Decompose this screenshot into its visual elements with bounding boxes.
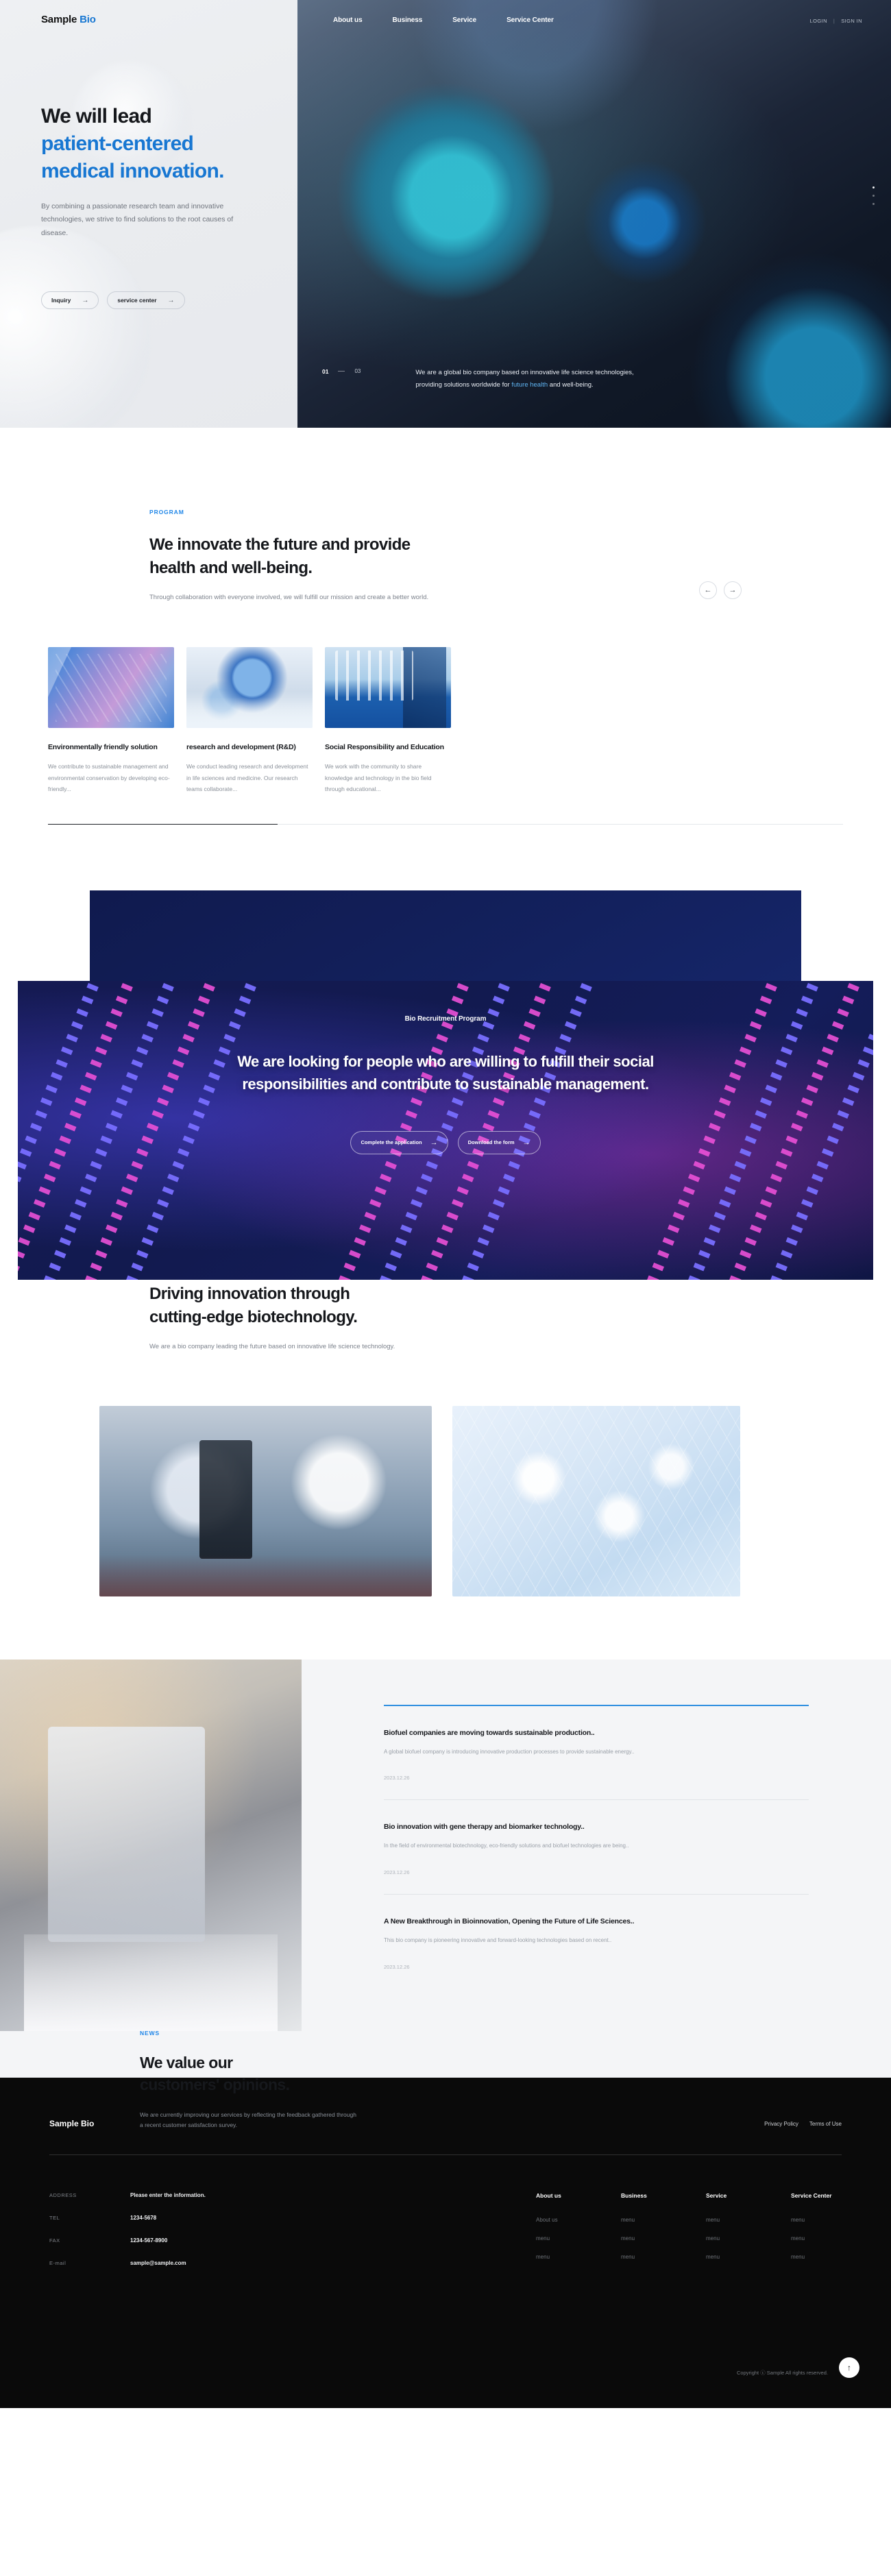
footer-link[interactable]: menu: [536, 2235, 587, 2241]
login-link[interactable]: LOGIN: [810, 18, 827, 24]
footer-info-value: sample@sample.com: [130, 2260, 186, 2266]
logo-text-accent: Bio: [80, 14, 96, 25]
hero-left-panel: Sample Bio We will lead patient-centered…: [0, 0, 297, 428]
card-description: We conduct leading research and developm…: [186, 761, 313, 795]
footer-column-business: Business menu menu menu: [621, 2192, 672, 2266]
footer-link[interactable]: menu: [791, 2217, 842, 2223]
site-logo[interactable]: Sample Bio: [41, 14, 96, 25]
program-description: Through collaboration with everyone invo…: [149, 592, 428, 603]
program-progress-bar[interactable]: [48, 824, 843, 825]
footer-divider: [49, 2154, 842, 2155]
hero-section: Sample Bio We will lead patient-centered…: [0, 0, 891, 428]
program-header-wrap: PROGRAM We innovate the future and provi…: [0, 509, 891, 603]
inquiry-button[interactable]: Inquiry →: [41, 291, 99, 309]
news-title-line-2: customers' opinions.: [140, 2074, 400, 2095]
news-photo: [0, 1660, 302, 2031]
arrow-right-icon: →: [523, 1138, 530, 1148]
news-description: We are currently improving our services …: [140, 2110, 359, 2131]
footer-link[interactable]: menu: [706, 2235, 757, 2241]
inquiry-button-label: Inquiry: [51, 297, 71, 304]
logo-text-primary: Sample: [41, 14, 77, 25]
program-carousel-controls: ← →: [699, 581, 742, 599]
card-title: research and development (R&D): [186, 743, 313, 751]
news-eyebrow: NEWS: [140, 2030, 400, 2037]
main-navigation: About us Business Service Service Center: [333, 16, 554, 24]
footer-logo[interactable]: Sample Bio: [49, 2119, 94, 2128]
program-section: PROGRAM We innovate the future and provi…: [0, 428, 891, 825]
complete-application-label: Complete the application: [361, 1139, 422, 1146]
footer-info-value: 1234-567-8900: [130, 2237, 167, 2244]
program-card[interactable]: Social Responsibility and Education We w…: [325, 647, 451, 795]
landing-page: Sample Bio We will lead patient-centered…: [0, 0, 891, 2408]
footer-sitemap: About us About us menu menu Business men…: [536, 2192, 842, 2266]
download-form-button[interactable]: Download the form →: [458, 1131, 541, 1154]
card-image-environment: [48, 647, 174, 728]
hero-title: We will lead patient-centered medical in…: [41, 103, 267, 185]
news-item-title: A New Breakthrough in Bioinnovation, Ope…: [384, 1917, 809, 1925]
footer-info-value: Please enter the information.: [130, 2192, 206, 2198]
nav-item-service[interactable]: Service: [452, 16, 476, 24]
recruitment-title-line-1: We are looking for people who are willin…: [120, 1050, 771, 1073]
works-title-line-2: cutting-edge biotechnology.: [149, 1306, 742, 1329]
card-description: We contribute to sustainable management …: [48, 761, 174, 795]
program-title-line-1: We innovate the future and provide: [149, 533, 428, 557]
footer-column-heading[interactable]: Service Center: [791, 2192, 842, 2199]
footer-column-heading[interactable]: About us: [536, 2192, 587, 2199]
program-heading-block: We innovate the future and provide healt…: [149, 533, 428, 603]
footer-contact-info: ADDRESS Please enter the information. TE…: [49, 2192, 206, 2266]
footer-column-heading[interactable]: Business: [621, 2192, 672, 2199]
footer-link[interactable]: menu: [536, 2254, 587, 2260]
card-image-research: [186, 647, 313, 728]
hero-image-panel: About us Business Service Service Center…: [297, 0, 891, 428]
footer-link[interactable]: menu: [621, 2217, 672, 2223]
footer-policy-links: Privacy Policy Terms of Use: [764, 2121, 842, 2127]
footer-info-label: ADDRESS: [49, 2192, 130, 2198]
recruitment-content: Bio Recruitment Program We are looking f…: [18, 981, 873, 1280]
hero-slide-counter: 01 03: [322, 367, 361, 375]
footer-info-label: E-mail: [49, 2260, 130, 2266]
recruitment-section: Bio Recruitment Program We are looking f…: [0, 890, 891, 1192]
footer-column-service-center: Service Center menu menu menu: [791, 2192, 842, 2266]
program-eyebrow: PROGRAM: [149, 509, 742, 515]
footer-info-value: 1234-5678: [130, 2215, 156, 2221]
card-image-social: [325, 647, 451, 728]
complete-application-button[interactable]: Complete the application →: [350, 1131, 448, 1154]
site-footer: Sample Bio Privacy Policy Terms of Use A…: [0, 2078, 891, 2408]
news-title: We value our customers' opinions.: [140, 2052, 400, 2095]
caption-part-a: providing solutions worldwide for: [415, 381, 511, 389]
hero-copy: We will lead patient-centered medical in…: [41, 103, 267, 240]
news-item-desc: This bio company is pioneering innovativ…: [384, 1936, 809, 1945]
hero-caption-line-2: providing solutions worldwide for future…: [415, 379, 633, 392]
card-title: Social Responsibility and Education: [325, 743, 451, 751]
arrow-left-icon[interactable]: ←: [699, 581, 717, 599]
slide-total: 03: [354, 368, 361, 374]
footer-column-list: menu menu menu: [791, 2217, 842, 2260]
counter-divider: [338, 371, 345, 372]
footer-info-label: FAX: [49, 2237, 130, 2244]
terms-of-use-link[interactable]: Terms of Use: [809, 2121, 842, 2127]
signin-link[interactable]: SIGN IN: [841, 18, 862, 24]
works-description: We are a bio company leading the future …: [149, 1341, 742, 1352]
footer-info-row: FAX 1234-567-8900: [49, 2237, 206, 2244]
arrow-right-icon: →: [430, 1138, 438, 1148]
news-item-title: Bio innovation with gene therapy and bio…: [384, 1823, 809, 1831]
works-title-line-1: Driving innovation through: [149, 1283, 742, 1306]
news-item-date: 2023.12.26: [384, 1869, 809, 1875]
program-title-line-2: health and well-being.: [149, 557, 428, 580]
footer-link[interactable]: About us: [536, 2217, 587, 2223]
privacy-policy-link[interactable]: Privacy Policy: [764, 2121, 798, 2127]
recruitment-banner: Bio Recruitment Program We are looking f…: [18, 981, 873, 1280]
footer-column-service: Service menu menu menu: [706, 2192, 757, 2266]
footer-link[interactable]: menu: [791, 2254, 842, 2260]
footer-info-row: TEL 1234-5678: [49, 2215, 206, 2221]
nav-item-about-us[interactable]: About us: [333, 16, 363, 24]
hero-caption-text: We are a global bio company based on inn…: [415, 367, 633, 392]
card-title: Environmentally friendly solution: [48, 743, 174, 751]
footer-link[interactable]: menu: [791, 2235, 842, 2241]
news-item-title: Biofuel companies are moving towards sus…: [384, 1729, 809, 1737]
caption-part-b: and well-being.: [548, 381, 594, 389]
recruitment-title: We are looking for people who are willin…: [120, 1050, 771, 1095]
works-image-microscope[interactable]: [99, 1406, 432, 1596]
footer-link[interactable]: menu: [706, 2254, 757, 2260]
footer-top-row: Sample Bio Privacy Policy Terms of Use: [0, 2119, 891, 2128]
auth-separator: |: [833, 18, 835, 24]
footer-info-label: TEL: [49, 2215, 130, 2221]
footer-column-about-us: About us About us menu menu: [536, 2192, 587, 2266]
recruitment-cta-group: Complete the application → Download the …: [350, 1131, 540, 1154]
footer-column-list: menu menu menu: [621, 2217, 672, 2260]
footer-link[interactable]: menu: [621, 2254, 672, 2260]
footer-link[interactable]: menu: [621, 2235, 672, 2241]
news-item-date: 2023.12.26: [384, 1775, 809, 1781]
footer-info-row: E-mail sample@sample.com: [49, 2260, 206, 2266]
footer-info-row: ADDRESS Please enter the information.: [49, 2192, 206, 2198]
arrow-right-icon: →: [168, 297, 175, 304]
footer-link[interactable]: menu: [706, 2217, 757, 2223]
works-image-molecule[interactable]: [452, 1406, 740, 1596]
hero-subtitle: By combining a passionate research team …: [41, 200, 247, 240]
slide-current: 01: [322, 368, 328, 375]
arrow-right-icon: →: [82, 297, 88, 304]
footer-column-list: About us menu menu: [536, 2217, 587, 2260]
slider-dot-2[interactable]: [872, 195, 875, 197]
nav-item-service-center[interactable]: Service Center: [506, 16, 554, 24]
hero-cta-group: Inquiry → service center →: [41, 291, 185, 309]
card-description: We work with the community to share know…: [325, 761, 451, 795]
news-section: NEWS We value our customers' opinions. W…: [0, 1660, 891, 2078]
program-heading-row: We innovate the future and provide healt…: [149, 533, 742, 603]
works-section: WORKS Driving innovation through cutting…: [0, 1258, 891, 1596]
auth-navigation: LOGIN | SIGN IN: [810, 18, 862, 24]
program-card[interactable]: research and development (R&D) We conduc…: [186, 647, 313, 795]
arrow-right-icon[interactable]: →: [724, 581, 742, 599]
news-list: Biofuel companies are moving towards sus…: [384, 1705, 809, 1988]
hero-caption-line-1: We are a global bio company based on inn…: [415, 367, 633, 380]
caption-highlight: future health: [511, 381, 548, 389]
hero-caption: 01 03 We are a global bio company based …: [322, 367, 634, 392]
program-title: We innovate the future and provide healt…: [149, 533, 428, 580]
footer-copyright: Copyright ⓒ Sample All rights reserved.: [0, 2369, 891, 2377]
download-form-label: Download the form: [468, 1139, 515, 1146]
news-list-item[interactable]: Biofuel companies are moving towards sus…: [384, 1706, 809, 1801]
recruitment-kicker: Bio Recruitment Program: [405, 1015, 487, 1023]
program-card-list: Environmentally friendly solution We con…: [0, 647, 891, 795]
program-card[interactable]: Environmentally friendly solution We con…: [48, 647, 174, 795]
news-item-desc: A global biofuel company is introducing …: [384, 1747, 809, 1757]
hero-title-line-1: We will lead: [41, 105, 151, 127]
recruitment-title-line-2: responsibilities and contribute to susta…: [120, 1073, 771, 1095]
news-list-item[interactable]: Bio innovation with gene therapy and bio…: [384, 1800, 809, 1895]
works-gallery: [0, 1406, 891, 1596]
service-center-button-label: service center: [117, 297, 156, 304]
slider-dot-1[interactable]: [872, 186, 875, 189]
hero-slider-dots[interactable]: [872, 186, 875, 205]
news-item-date: 2023.12.26: [384, 1964, 809, 1970]
service-center-button[interactable]: service center →: [107, 291, 184, 309]
news-list-item[interactable]: A New Breakthrough in Bioinnovation, Ope…: [384, 1895, 809, 1989]
footer-column-heading[interactable]: Service: [706, 2192, 757, 2199]
slider-dot-3[interactable]: [872, 203, 875, 205]
hero-title-line-3: medical innovation.: [41, 158, 267, 185]
works-title: Driving innovation through cutting-edge …: [149, 1283, 742, 1329]
footer-column-list: menu menu menu: [706, 2217, 757, 2260]
news-item-desc: In the field of environmental biotechnol…: [384, 1841, 809, 1851]
hero-title-line-2: patient-centered: [41, 130, 267, 158]
footer-body: ADDRESS Please enter the information. TE…: [0, 2192, 891, 2266]
nav-item-business[interactable]: Business: [393, 16, 423, 24]
news-intro: NEWS We value our customers' opinions. W…: [140, 2030, 400, 2131]
news-title-line-1: We value our: [140, 2052, 400, 2074]
